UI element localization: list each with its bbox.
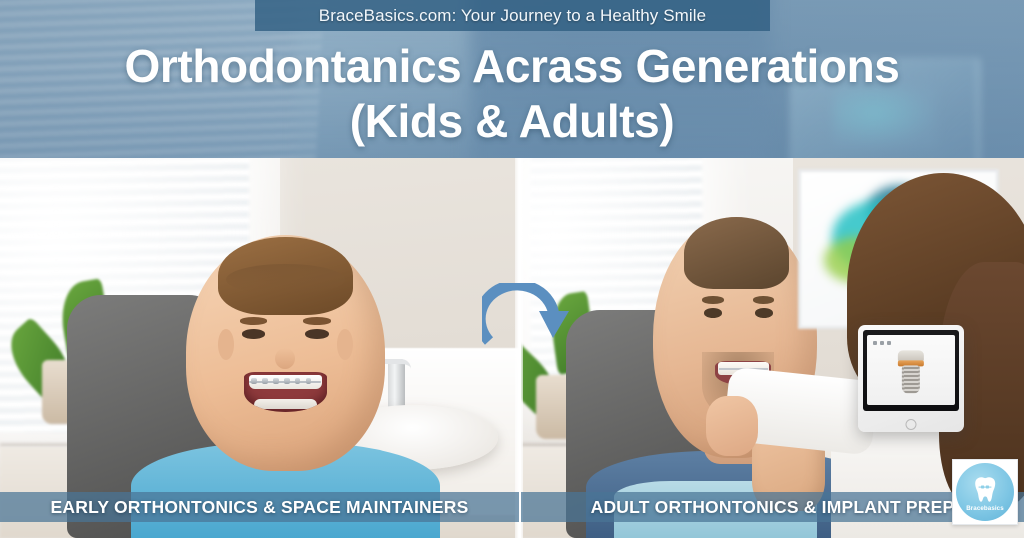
left-caption-text: EARLY ORTHONTONICS & SPACE MAINTAINERS <box>51 497 469 518</box>
tablet-screen[interactable] <box>863 330 959 411</box>
brand-logo[interactable]: Bracebasics <box>952 459 1018 525</box>
toolbar-dot-icon <box>887 341 891 345</box>
child-ear-left <box>218 329 234 360</box>
toolbar-dot-icon <box>873 341 877 345</box>
left-caption-bar: EARLY ORTHONTONICS & SPACE MAINTAINERS <box>0 492 519 522</box>
child-smile-with-braces <box>244 372 328 412</box>
braces-bracket <box>262 378 268 384</box>
adult-eyebrow-right <box>753 296 774 303</box>
right-caption-bar: ADULT ORTHONTONICS & IMPLANT PREP <box>521 492 1024 522</box>
site-banner: BraceBasics.com: Your Journey to a Healt… <box>255 0 770 31</box>
child-eye-right <box>305 329 329 338</box>
tooth-icon <box>971 476 999 503</box>
implant-threaded-post <box>902 365 920 393</box>
tablet-home-button[interactable] <box>905 419 916 430</box>
dental-implant-tablet[interactable] <box>858 325 964 431</box>
braces-bracket <box>295 378 301 384</box>
toolbar-dot-icon <box>880 341 884 345</box>
left-photo-pane <box>0 158 519 538</box>
curved-arrow-icon <box>482 283 570 345</box>
header-section: BraceBasics.com: Your Journey to a Healt… <box>0 0 1024 158</box>
logo-brand-text: Bracebasics <box>956 505 1014 512</box>
page-title: Orthodontanics Acrass Generations (Kids … <box>0 30 1024 158</box>
dentist-hand <box>706 396 758 456</box>
logo-circle: Bracebasics <box>956 463 1014 521</box>
child-ear-right <box>337 329 353 360</box>
infographic-canvas: BraceBasics.com: Your Journey to a Healt… <box>0 0 1024 538</box>
tablet-screen-content <box>867 335 955 405</box>
child-eye-left <box>242 329 266 338</box>
adult-eye-left <box>704 308 722 318</box>
page-title-line-1: Orthodontanics Acrass Generations <box>125 39 900 93</box>
child-eyebrow-right <box>303 317 331 324</box>
panel-divider <box>515 158 523 538</box>
braces-bracket <box>251 378 257 384</box>
curved-transition-arrow <box>482 283 570 345</box>
braces-archwire-icon <box>979 487 992 488</box>
child-face <box>186 235 385 471</box>
page-title-line-2: (Kids & Adults) <box>350 93 675 149</box>
child-hair <box>218 237 354 315</box>
right-caption-text: ADULT ORTHONTONICS & IMPLANT PREP <box>591 497 955 518</box>
child-nose <box>275 348 295 369</box>
right-photo-pane <box>521 158 1024 538</box>
adult-eyebrow-left <box>702 296 723 303</box>
child-lower-teeth <box>254 399 318 409</box>
comparison-photo-row: EARLY ORTHONTONICS & SPACE MAINTAINERS A… <box>0 158 1024 538</box>
braces-bracket <box>284 378 290 384</box>
child-patient <box>125 219 447 538</box>
site-banner-text: BraceBasics.com: Your Journey to a Healt… <box>319 6 706 26</box>
adult-eye-right <box>755 308 773 318</box>
tablet-toolbar-icons <box>873 341 891 345</box>
implant-screw-illustration <box>898 350 924 393</box>
child-eyebrow-left <box>240 317 268 324</box>
braces-bracket <box>306 378 312 384</box>
adult-hair <box>684 217 789 289</box>
braces-bracket <box>273 378 279 384</box>
